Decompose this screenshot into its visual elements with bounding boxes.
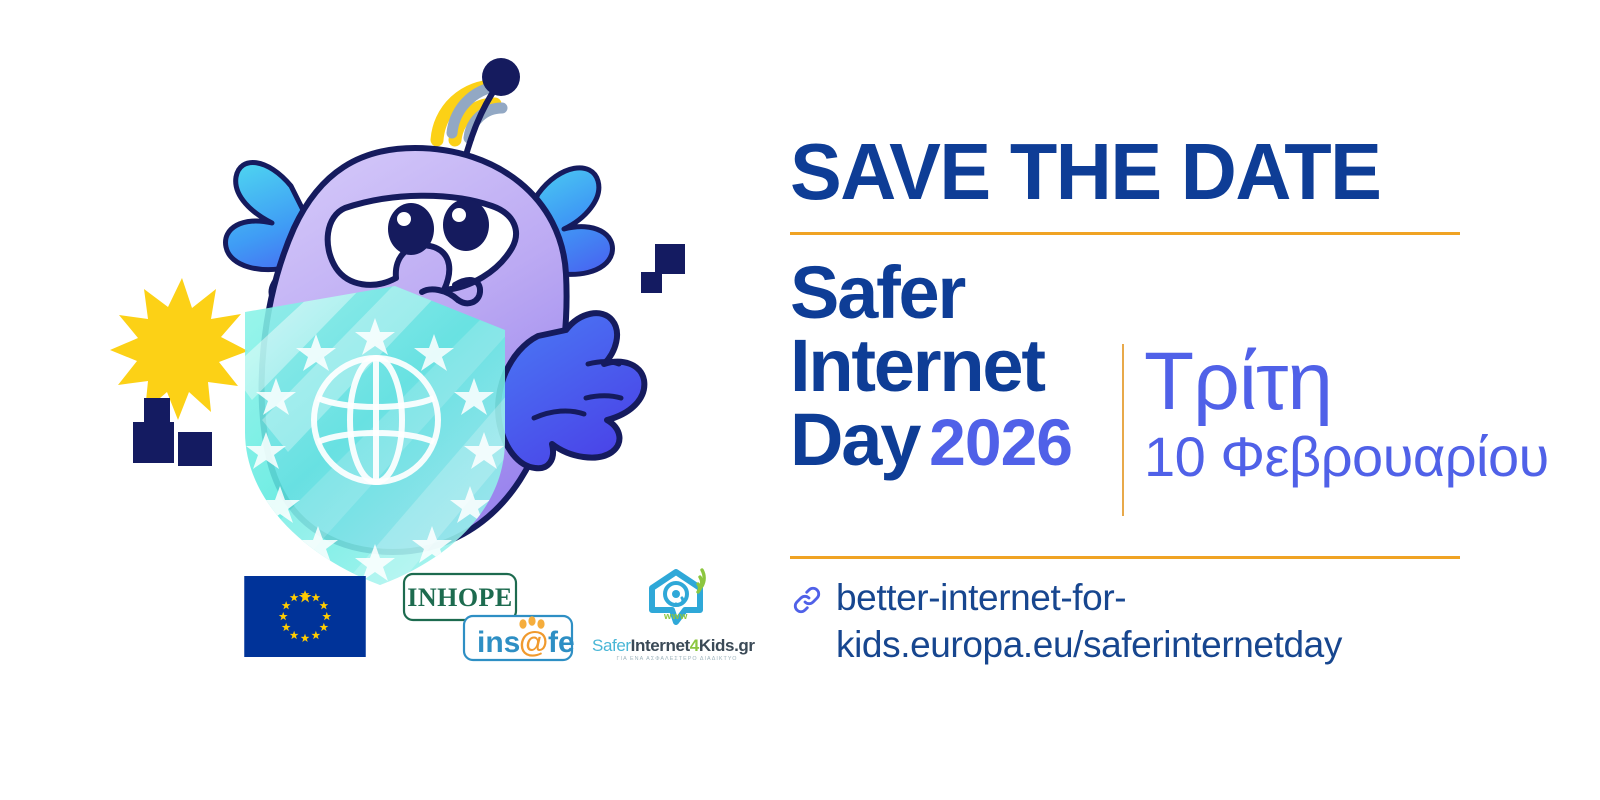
campaign-year: 2026 <box>929 405 1072 479</box>
saferinternet4kids-logo: www SaferInternet4Kids.gr ΓΙΑ ΕΝΑ ΑΣΦΑΛΕ… <box>592 566 762 662</box>
save-the-date-poster: INHOPE ins @ fe <box>0 0 1600 800</box>
insafe-wordmark-part2: fe <box>548 626 574 659</box>
campaign-line-3: Day <box>790 398 919 481</box>
event-date-block: Τρίτη 10 Φεβρουαρίου <box>1144 340 1594 486</box>
si4k-word-tld: .gr <box>734 636 755 655</box>
decorative-squares-right <box>641 244 685 293</box>
si4k-word-four: 4 <box>690 636 699 655</box>
campaign-title-block: Safer Internet Day2026 <box>790 256 1120 476</box>
vertical-divider <box>1122 344 1124 516</box>
si4k-wordmark: SaferInternet4Kids.gr <box>592 637 762 654</box>
campaign-line-3-row: Day2026 <box>790 403 1120 476</box>
si4k-at-icon <box>665 583 687 605</box>
si4k-wifi-icon <box>698 570 704 592</box>
si4k-tagline: ΓΙΑ ΕΝΑ ΑΣΦΑΛΕΣΤΕΡΟ ΔΙΑΔΙΚΤΥΟ <box>592 657 762 662</box>
si4k-www-label: www <box>663 611 688 622</box>
eu-flag-logo <box>244 576 366 662</box>
page-title: SAVE THE DATE <box>790 132 1380 212</box>
si4k-word-kids: Kids <box>699 636 734 655</box>
decorative-squares-left <box>133 398 212 466</box>
si4k-word-internet: Internet <box>631 636 690 655</box>
si4k-mark: www <box>592 566 762 632</box>
inhope-wordmark: INHOPE <box>407 583 513 612</box>
event-date: 10 Φεβρουαρίου <box>1144 428 1594 487</box>
mascot-artwork-panel: INHOPE ins @ fe <box>0 0 790 800</box>
event-weekday: Τρίτη <box>1144 340 1594 424</box>
divider-bottom <box>790 556 1460 559</box>
insafe-wordmark-part1: ins <box>477 626 520 659</box>
campaign-line-2: Internet <box>790 329 1120 402</box>
divider-top <box>790 232 1460 235</box>
si4k-word-safer: Safer <box>592 636 631 655</box>
poster-text-panel: SAVE THE DATE Safer Internet Day2026 Τρί… <box>788 0 1600 800</box>
website-link[interactable]: better-internet-for-kids.europa.eu/safer… <box>790 574 1490 669</box>
partner-logo-row: INHOPE ins @ fe <box>240 566 780 666</box>
link-icon <box>790 583 824 622</box>
starburst-icon <box>110 278 248 420</box>
campaign-line-1: Safer <box>790 256 1120 329</box>
mascot-illustration <box>0 0 790 800</box>
website-url[interactable]: better-internet-for-kids.europa.eu/safer… <box>836 574 1476 669</box>
insafe-at-symbol: @ <box>519 626 548 659</box>
inhope-insafe-logo: INHOPE ins @ fe <box>402 570 574 669</box>
